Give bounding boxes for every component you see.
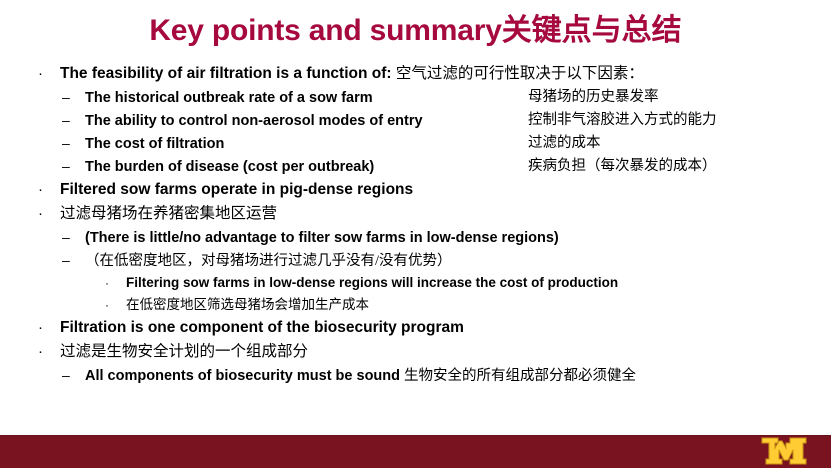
list-item-text: All components of biosecurity must be so…	[85, 365, 636, 388]
list-item-text-chinese: （在低密度地区，对母猪场进行过滤几乎没有/没有优势）	[85, 253, 452, 269]
list-item-text-english: The historical outbreak rate of a sow fa…	[85, 90, 373, 106]
list-item: ·Filtering sow farms in low-dense region…	[0, 272, 831, 294]
bullet-marker: ·	[38, 178, 60, 202]
bullet-marker: ·	[38, 62, 60, 86]
list-item: ·在低密度地区筛选母猪场会增加生产成本	[0, 294, 831, 316]
bullet-marker: ·	[38, 316, 60, 340]
list-item-text-chinese: 生物安全的所有组成部分都必须健全	[404, 368, 636, 384]
page-title: Key points and summary关键点与总结	[0, 16, 831, 46]
list-item-text: 过滤母猪场在养猪密集地区运营	[60, 202, 277, 226]
list-item-text: 在低密度地区筛选母猪场会增加生产成本	[126, 294, 369, 316]
bullet-marker: –	[62, 364, 85, 387]
list-item-text-chinese: 在低密度地区筛选母猪场会增加生产成本	[126, 297, 369, 312]
list-item-chinese-column: 母猪场的历史暴发率	[528, 86, 659, 109]
list-item-chinese-column: 控制非气溶胶进入方式的能力	[528, 109, 717, 132]
list-item-chinese-column: 疾病负担（每次暴发的成本）	[528, 155, 717, 178]
list-item: –The burden of disease (cost per outbrea…	[0, 155, 831, 178]
bullet-marker: ·	[38, 202, 60, 226]
bullet-marker: ·	[38, 340, 60, 364]
list-item: –All components of biosecurity must be s…	[0, 364, 831, 387]
list-item: –The cost of filtration过滤的成本	[0, 132, 831, 155]
list-item-text: Filtered sow farms operate in pig-dense …	[60, 178, 413, 202]
list-item-text: The ability to control non-aerosol modes…	[85, 110, 423, 133]
list-item-text: 过滤是生物安全计划的一个组成部分	[60, 340, 308, 364]
university-of-minnesota-m-logo	[759, 436, 813, 466]
bullet-marker: –	[62, 155, 85, 178]
bullet-marker: ·	[105, 272, 126, 294]
list-item: ·The feasibility of air filtration is a …	[0, 62, 831, 86]
page-title-english: Key points and summary	[149, 14, 501, 47]
list-item-text-english: The burden of disease (cost per outbreak…	[85, 159, 374, 175]
list-item-text: （在低密度地区，对母猪场进行过滤几乎没有/没有优势）	[85, 250, 452, 273]
list-item-text-english: Filtration is one component of the biose…	[60, 319, 464, 336]
list-item-text-english: (There is little/no advantage to filter …	[85, 230, 559, 246]
bullet-list: ·The feasibility of air filtration is a …	[0, 62, 831, 387]
list-item-text: Filtration is one component of the biose…	[60, 316, 464, 340]
list-item-text: The cost of filtration	[85, 133, 224, 156]
bullet-marker: –	[62, 226, 85, 249]
list-item: –（在低密度地区，对母猪场进行过滤几乎没有/没有优势）	[0, 249, 831, 272]
list-item-text-english: Filtering sow farms in low-dense regions…	[126, 275, 618, 290]
bullet-marker: –	[62, 249, 85, 272]
footer-bar	[0, 435, 831, 468]
list-item-text-english: The ability to control non-aerosol modes…	[85, 113, 423, 129]
bullet-marker: –	[62, 132, 85, 155]
list-item-chinese-column: 过滤的成本	[528, 132, 601, 155]
bullet-marker: ·	[105, 294, 126, 316]
list-item: ·Filtration is one component of the bios…	[0, 316, 831, 340]
list-item-text: The historical outbreak rate of a sow fa…	[85, 87, 373, 110]
bullet-marker: –	[62, 109, 85, 132]
list-item-text: The burden of disease (cost per outbreak…	[85, 156, 374, 179]
list-item-text-chinese: 过滤是生物安全计划的一个组成部分	[60, 343, 308, 360]
list-item: –The historical outbreak rate of a sow f…	[0, 86, 831, 109]
list-item-text-english: The cost of filtration	[85, 136, 224, 152]
list-item-text-english: All components of biosecurity must be so…	[85, 368, 400, 384]
list-item-text-chinese: 空气过滤的可行性取决于以下因素：	[396, 65, 644, 82]
list-item: –(There is little/no advantage to filter…	[0, 226, 831, 249]
page-title-chinese: 关键点与总结	[502, 14, 682, 47]
list-item: ·过滤是生物安全计划的一个组成部分	[0, 340, 831, 364]
list-item-text: (There is little/no advantage to filter …	[85, 227, 559, 250]
bullet-marker: –	[62, 86, 85, 109]
list-item-text-chinese: 过滤母猪场在养猪密集地区运营	[60, 205, 277, 222]
list-item: –The ability to control non-aerosol mode…	[0, 109, 831, 132]
list-item: ·过滤母猪场在养猪密集地区运营	[0, 202, 831, 226]
list-item: ·Filtered sow farms operate in pig-dense…	[0, 178, 831, 202]
list-item-text-english: Filtered sow farms operate in pig-dense …	[60, 181, 413, 198]
slide-canvas: Key points and summary关键点与总结 ·The feasib…	[0, 0, 831, 468]
list-item-text: Filtering sow farms in low-dense regions…	[126, 272, 618, 294]
list-item-text: The feasibility of air filtration is a f…	[60, 62, 644, 86]
list-item-text-english: The feasibility of air filtration is a f…	[60, 65, 392, 82]
